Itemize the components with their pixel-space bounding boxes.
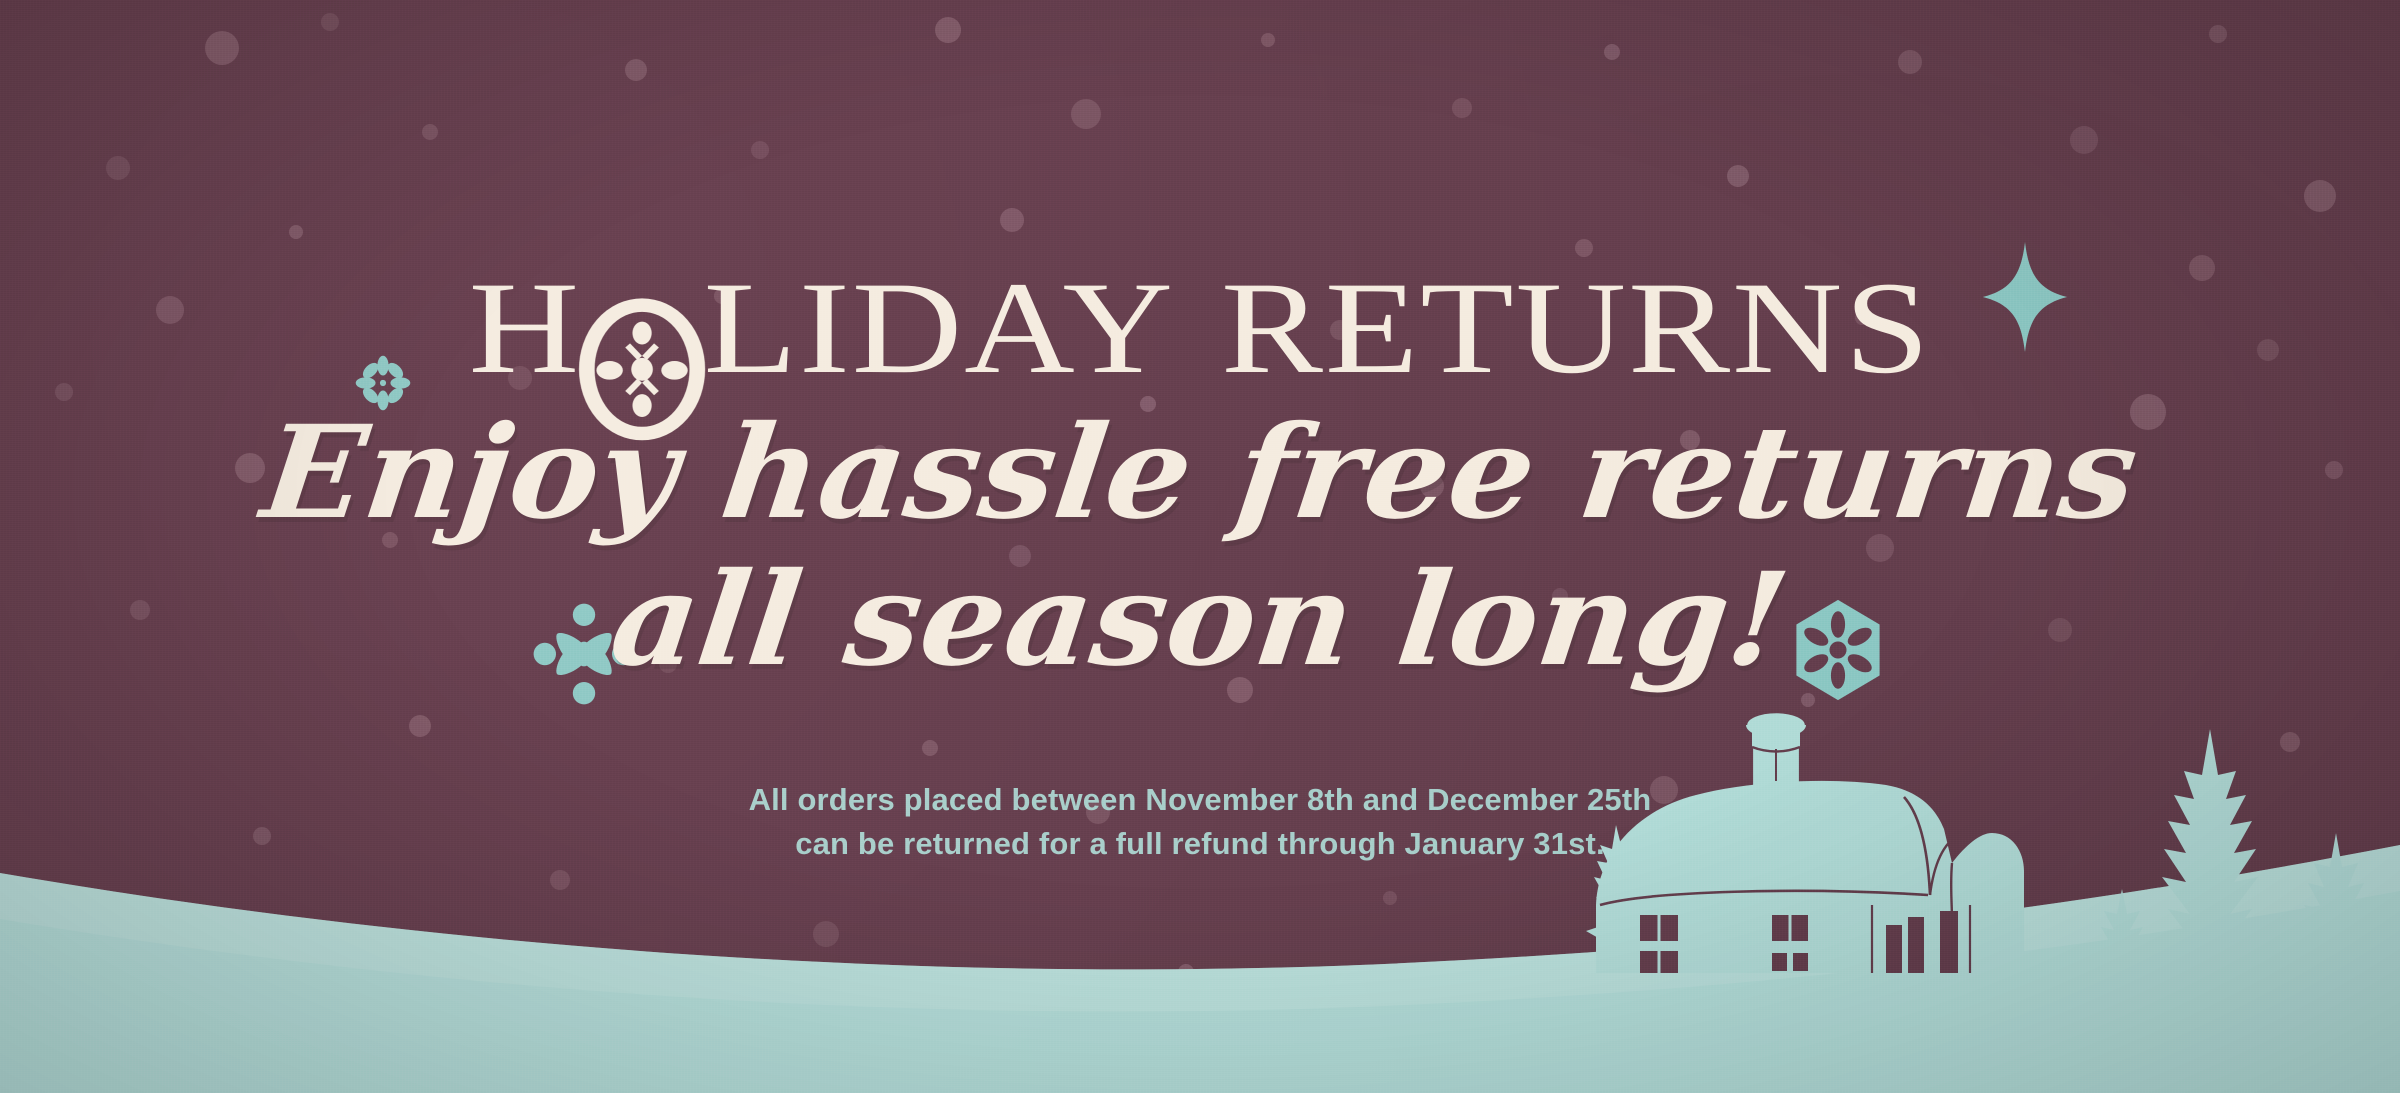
bokeh-dot — [289, 225, 303, 239]
bokeh-dot — [935, 17, 961, 43]
fineprint-line-1: All orders placed between November 8th a… — [0, 778, 2400, 822]
bokeh-dot — [625, 59, 647, 81]
bokeh-dot — [2304, 180, 2336, 212]
title-segment-returns: RETURNS — [1221, 254, 1932, 401]
bokeh-dot — [409, 715, 431, 737]
holiday-returns-banner: H LIDAYRETURNS E — [0, 0, 2400, 1093]
bokeh-dot — [1452, 98, 1472, 118]
bokeh-dot — [106, 156, 130, 180]
bokeh-dot — [205, 31, 239, 65]
bokeh-dot — [922, 740, 938, 756]
bokeh-dot — [1727, 165, 1749, 187]
fineprint-line-2: can be returned for a full refund throug… — [0, 822, 2400, 866]
bokeh-dot — [751, 141, 769, 159]
title-segment-liday: LIDAY — [704, 254, 1175, 401]
script-headline-line-2: all season long! — [0, 545, 2400, 695]
bokeh-dot — [1604, 44, 1620, 60]
bokeh-dot — [321, 13, 339, 31]
script-headline-line-1: Enjoy hassle free returns — [0, 398, 2400, 548]
bokeh-dot — [2209, 25, 2227, 43]
bokeh-dot — [422, 124, 438, 140]
bokeh-dot — [1000, 208, 1024, 232]
page-title: H LIDAYRETURNS — [0, 262, 2400, 394]
pine-tree-small-far-right — [2100, 889, 2144, 999]
fineprint-terms: All orders placed between November 8th a… — [0, 778, 2400, 866]
bokeh-dot — [1898, 50, 1922, 74]
bokeh-dot — [1071, 99, 1101, 129]
bokeh-dot — [1261, 33, 1275, 47]
bokeh-dot — [2070, 126, 2098, 154]
